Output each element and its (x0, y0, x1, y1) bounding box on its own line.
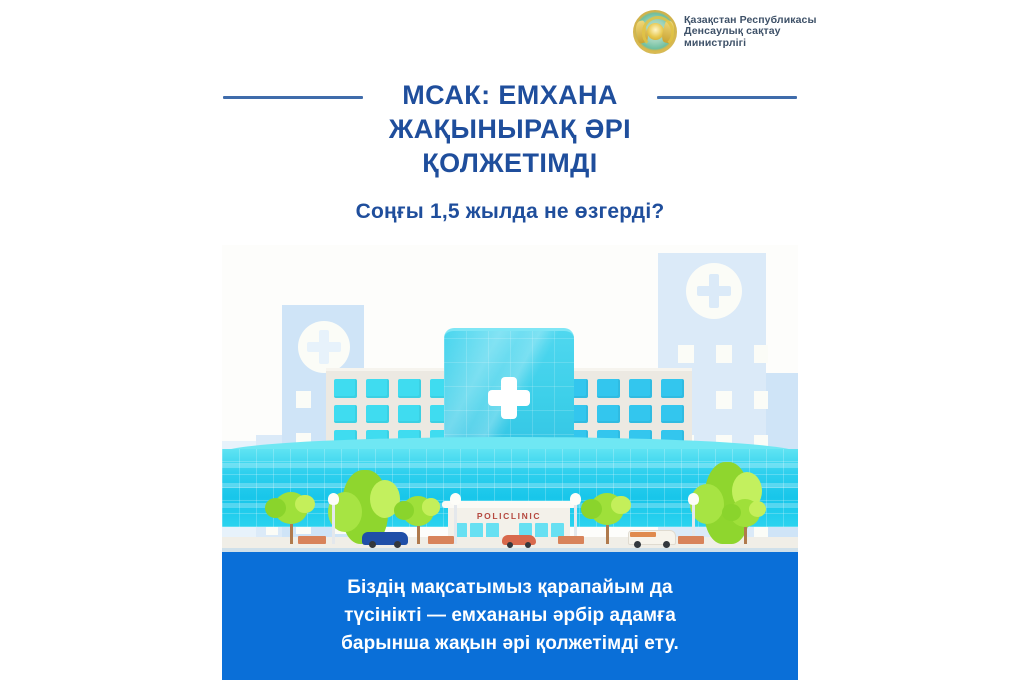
planter (678, 536, 704, 544)
car (362, 532, 408, 545)
car (502, 535, 536, 545)
title-block: МСАК: ЕМХАНА ЖАҚЫНЫРАҚ ӘРІ ҚОЛЖЕТІМДІ (0, 78, 1020, 180)
tree-crown (402, 496, 434, 526)
background-window (716, 345, 732, 363)
tree-crown (590, 493, 624, 525)
van-wheel (663, 541, 670, 548)
hospital-window (597, 379, 620, 398)
hospital-window (661, 405, 684, 424)
background-window (754, 391, 768, 409)
emblem-wing-right-icon (661, 20, 677, 44)
entrance-canopy (442, 501, 576, 508)
car-wheel (394, 541, 401, 548)
page-subtitle: Соңғы 1,5 жылда не өзгерді? (0, 200, 1020, 224)
hospital-window (629, 405, 652, 424)
planter (558, 536, 584, 544)
hospital-window (597, 405, 620, 424)
city-illustration: POLICLINIC (222, 245, 798, 553)
hospital-window (334, 405, 357, 424)
van-wheel (634, 541, 641, 548)
ministry-name: Қазақстан Республикасы Денсаулық сақтау … (684, 15, 817, 50)
background-window (716, 391, 732, 409)
car-wheel (525, 542, 531, 548)
bottom-banner: Біздің мақсатымыз қарапайым да түсінікті… (222, 552, 798, 680)
clinic-sign: POLICLINIC (448, 511, 570, 521)
planter (298, 536, 326, 544)
hospital-window (334, 379, 357, 398)
medical-cross-icon (488, 377, 530, 419)
tree-trunk (606, 525, 609, 544)
hospital-window (661, 379, 684, 398)
ambulance-van (628, 530, 676, 545)
door-panel (535, 523, 548, 538)
planter (428, 536, 454, 544)
tree (590, 493, 624, 544)
hospital-window (398, 405, 421, 424)
door-panel (486, 523, 499, 538)
kazakhstan-coat-of-arms-icon (633, 10, 677, 54)
hospital-window (366, 379, 389, 398)
hospital-window (366, 405, 389, 424)
street-lamp (454, 500, 457, 544)
tree-trunk (290, 524, 293, 544)
car-wheel (369, 541, 376, 548)
ministry-logo: Қазақстан Республикасы Денсаулық сақтау … (633, 10, 817, 54)
tree (730, 499, 760, 544)
podium-band (222, 463, 798, 468)
background-window (754, 345, 768, 363)
street-lamp (332, 500, 335, 544)
tree-trunk (417, 526, 420, 544)
hospital-window (398, 379, 421, 398)
circle-medical-cross-icon (686, 263, 742, 319)
tree-crown (274, 492, 308, 524)
background-window (296, 391, 311, 408)
door-panel (470, 523, 483, 538)
hospital-window (629, 379, 652, 398)
tree-trunk (744, 527, 747, 544)
tree-crown (730, 499, 760, 527)
page-title: МСАК: ЕМХАНА ЖАҚЫНЫРАҚ ӘРІ ҚОЛЖЕТІМДІ (0, 78, 1020, 180)
emblem-wing-left-icon (634, 20, 650, 44)
car-wheel (507, 542, 513, 548)
van-stripe (630, 532, 656, 537)
banner-text: Біздің мақсатымыз қарапайым да түсінікті… (317, 574, 703, 658)
poster-canvas: Қазақстан Республикасы Денсаулық сақтау … (0, 0, 1020, 680)
